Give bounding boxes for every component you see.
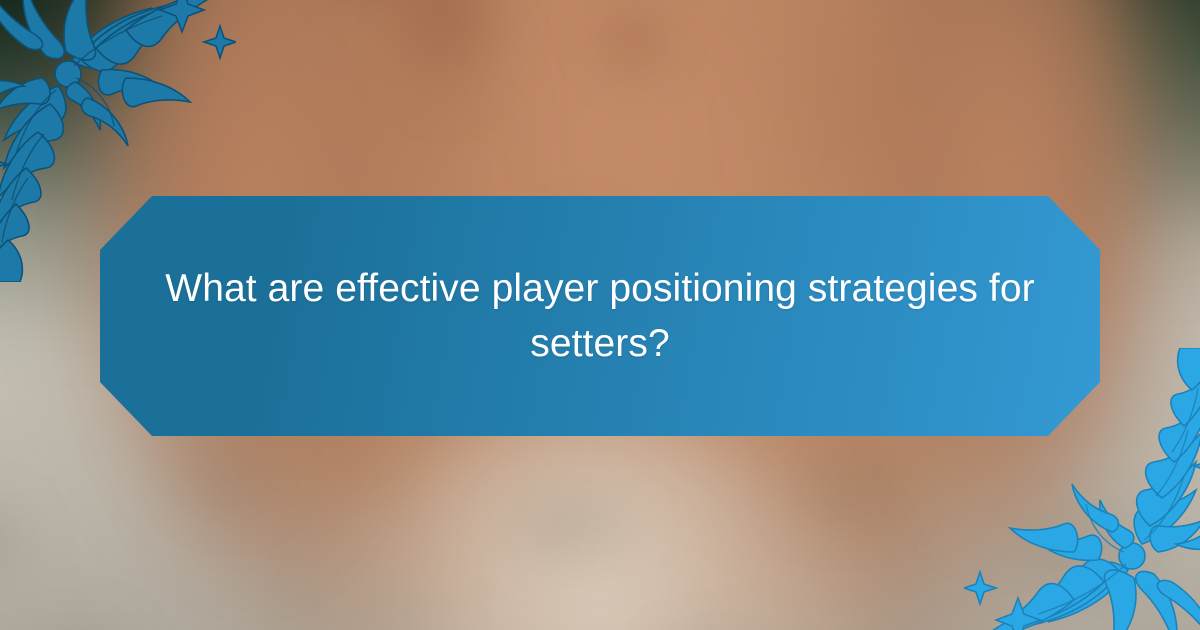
- headline-banner: What are effective player positioning st…: [100, 196, 1100, 436]
- page-title: What are effective player positioning st…: [154, 261, 1046, 371]
- share-card-canvas: What are effective player positioning st…: [0, 0, 1200, 630]
